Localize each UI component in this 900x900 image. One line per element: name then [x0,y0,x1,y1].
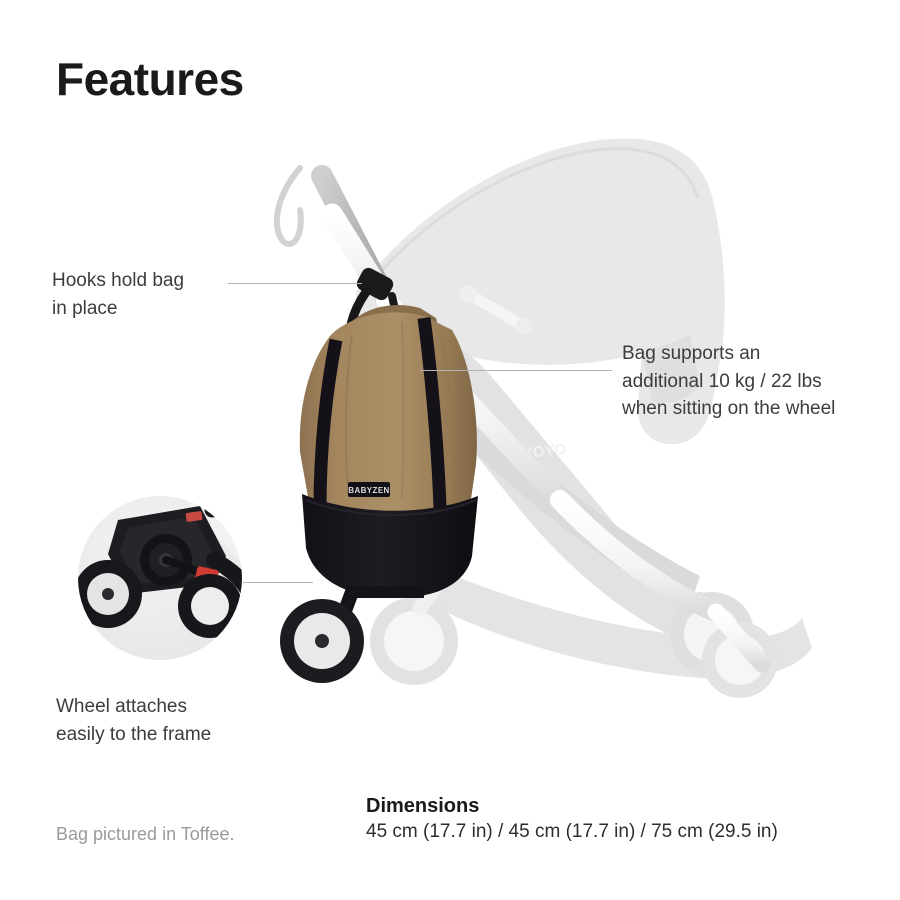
callout-hooks-hold-bag: Hooks hold bag in place [52,267,184,322]
page-title: Features [56,56,244,102]
babyzen-patch-text: BABYZEN [348,486,389,495]
leader-line-hooks [228,283,362,284]
dimensions-block: Dimensions 45 cm (17.7 in) / 45 cm (17.7… [366,793,778,845]
wrist-strap-loop [277,168,301,244]
feature-diagram-canvas: YOYO [0,0,900,900]
leader-line-support [420,370,612,371]
callout-support-line-3: when sitting on the wheel [622,395,835,423]
dimensions-title: Dimensions [366,793,778,819]
dimensions-value: 45 cm (17.7 in) / 45 cm (17.7 in) / 75 c… [366,819,778,845]
callout-wheel-line-1: Wheel attaches [56,693,211,721]
callout-hooks-line-1: Hooks hold bag [52,267,184,295]
callout-support-line-1: Bag supports an [622,340,835,368]
bag-color-caption: Bag pictured in Toffee. [56,824,234,845]
product-illustration: YOYO [0,0,900,900]
wheel-attach-inset [74,488,262,660]
babyzen-bag: BABYZEN [300,305,478,598]
leader-line-wheel [243,582,313,583]
callout-wheel-line-2: easily to the frame [56,721,211,749]
callout-bag-supports: Bag supports an additional 10 kg / 22 lb… [622,340,835,423]
callout-support-line-2: additional 10 kg / 22 lbs [622,368,835,396]
callout-hooks-line-2: in place [52,295,184,323]
callout-wheel-attaches: Wheel attaches easily to the frame [56,693,211,748]
